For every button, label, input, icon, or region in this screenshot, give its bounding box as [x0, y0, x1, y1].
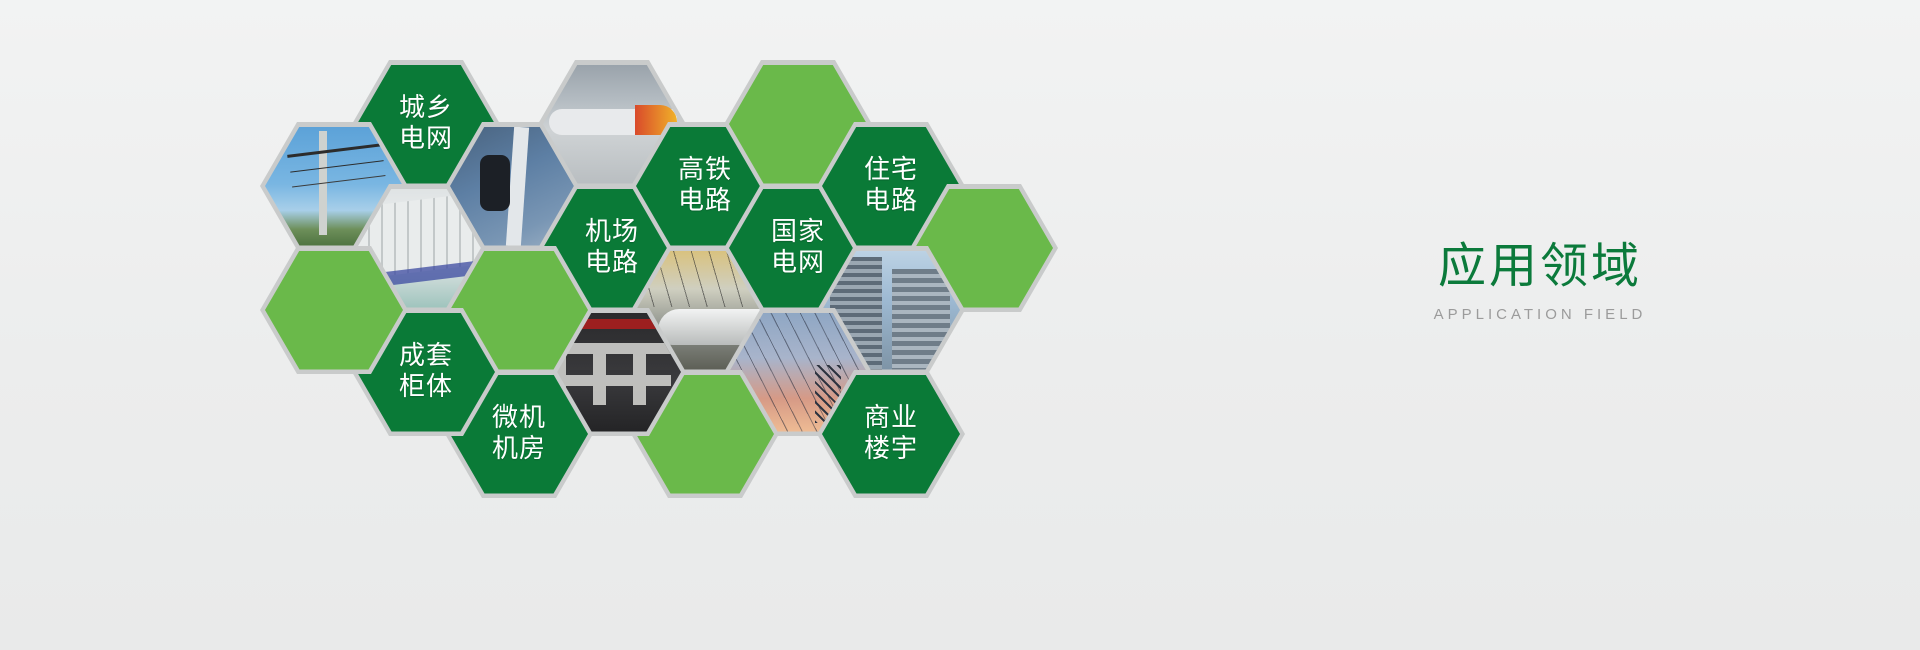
page-subtitle: APPLICATION FIELD — [1380, 306, 1700, 323]
hex-tile-commercial-building[interactable]: 商业 楼宇 — [817, 370, 965, 498]
title-block: 应用领域 APPLICATION FIELD — [1380, 238, 1700, 323]
hex-tile-blank-left[interactable] — [260, 246, 408, 374]
page-title: 应用领域 — [1380, 238, 1700, 294]
hexagon-grid: 城乡 电网机场 电路高铁 电路国家 电网住宅 电路商业 楼宇微机 机房成套 柜体 — [0, 0, 1340, 650]
hex-label: 商业 楼宇 — [864, 403, 918, 465]
application-field-banner: 城乡 电网机场 电路高铁 电路国家 电网住宅 电路商业 楼宇微机 机房成套 柜体… — [0, 0, 1920, 650]
hex-label: 微机 机房 — [492, 403, 546, 465]
